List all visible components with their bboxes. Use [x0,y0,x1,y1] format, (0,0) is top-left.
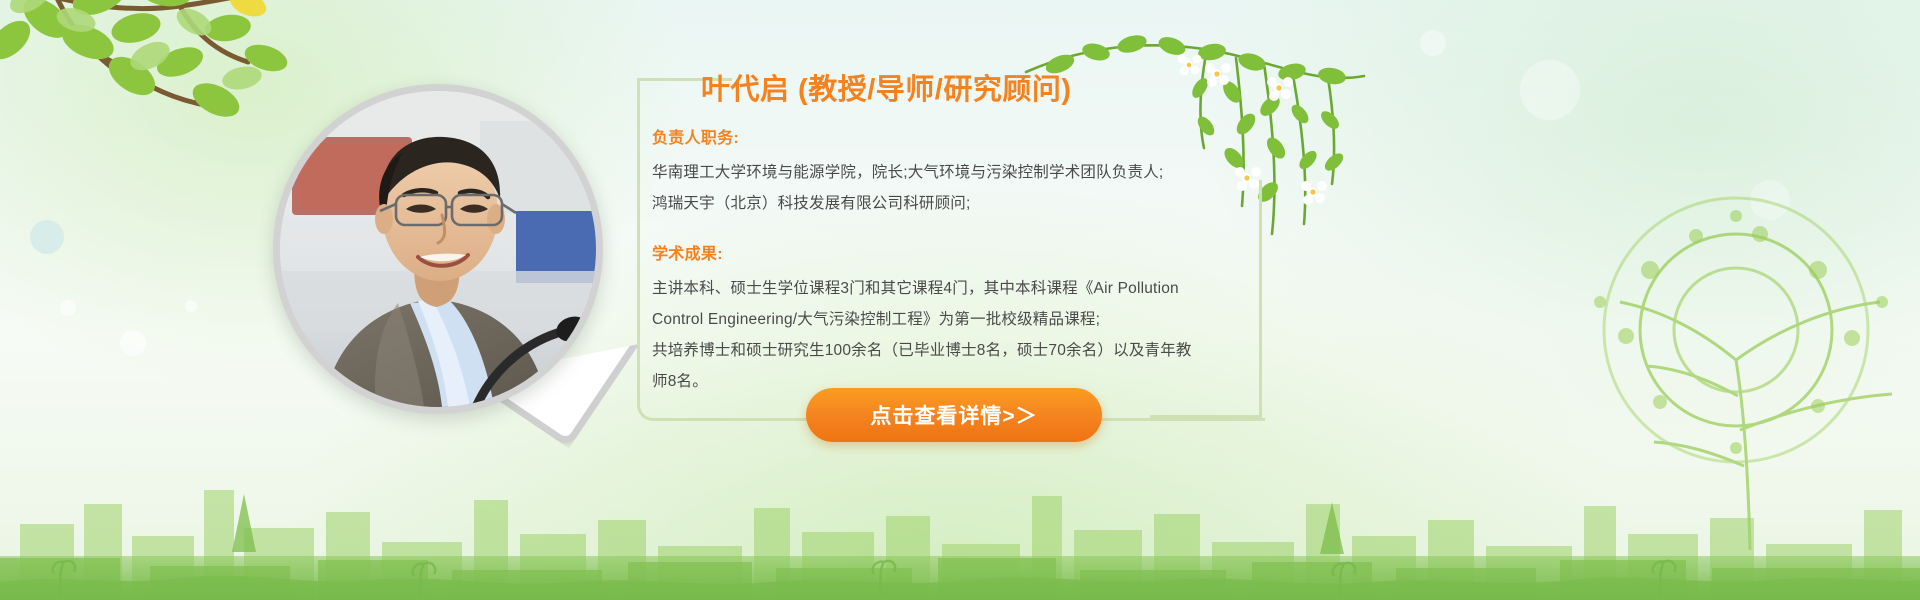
achievements-line: 共培养博士和硕士研究生100余名（已毕业博士8名，硕士70余名）以及青年教 [652,335,1192,366]
portrait-photo [273,84,603,414]
achievements-label: 学术成果: [652,240,1192,264]
bokeh-circle [185,300,197,312]
bokeh-circle [60,300,76,316]
content-bracket-bottom-right [1150,415,1262,418]
content-bracket-right [1259,180,1262,418]
bokeh-circle [1420,30,1446,56]
duties-label: 负责人职务: [652,124,1163,148]
profile-banner: 叶代启 (教授/导师/研究顾问) 负责人职务: 华南理工大学环境与能源学院，院长… [0,0,1920,600]
duties-line: 鸿瑞天宇（北京）科技发展有限公司科研顾问; [652,188,1163,219]
view-details-button[interactable]: 点击查看详情>＞ [806,388,1102,442]
achievements-line: 主讲本科、硕士生学位课程3门和其它课程4门，其中本科课程《Air Polluti… [652,273,1192,304]
bokeh-circle [120,330,146,356]
achievements-section: 学术成果: 主讲本科、硕士生学位课程3门和其它课程4门，其中本科课程《Air P… [652,240,1192,397]
page-title: 叶代启 (教授/导师/研究顾问) [701,66,1072,108]
grass-band [0,556,1920,600]
achievements-line: Control Engineering/大气污染控制工程》为第一批校级精品课程; [652,304,1192,335]
bokeh-circle [1520,60,1580,120]
duties-line: 华南理工大学环境与能源学院，院长;大气环境与污染控制学术团队负责人; [652,157,1163,188]
avatar [273,84,603,414]
duties-section: 负责人职务: 华南理工大学环境与能源学院，院长;大气环境与污染控制学术团队负责人… [652,124,1163,219]
